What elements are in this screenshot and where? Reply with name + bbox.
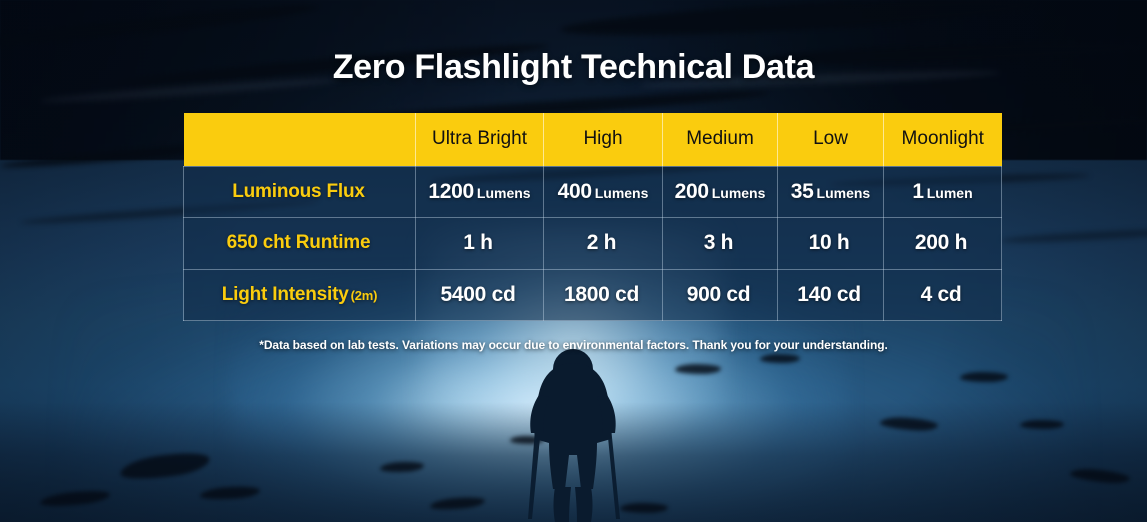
cell-unit: Lumens (712, 185, 766, 201)
cell-light-intensity-ultra-bright: 5400 cd (416, 269, 544, 321)
cell-luminous-flux-high: 400Lumens (544, 166, 663, 218)
cell-value: 200 (675, 180, 709, 203)
cell-value: 1200 (428, 180, 474, 203)
column-header-low: Low (778, 113, 884, 166)
cell-luminous-flux-low: 35Lumens (778, 166, 884, 218)
cell-unit: Lumens (817, 185, 871, 201)
row-label-text: 650 cht Runtime (227, 232, 371, 253)
column-header-ultra-bright: Ultra Bright (416, 113, 544, 166)
cell-light-intensity-high: 1800 cd (544, 269, 663, 321)
cell-light-intensity-moonlight: 4 cd (884, 269, 1002, 321)
cell-luminous-flux-medium: 200Lumens (663, 166, 778, 218)
column-header-moonlight: Moonlight (884, 113, 1002, 166)
cell-value: 3 h (704, 231, 733, 254)
cell-unit: Lumens (595, 185, 649, 201)
row-label-sub: (2m) (351, 288, 378, 303)
row-label-light-intensity: Light Intensity(2m) (184, 269, 416, 321)
cell-unit: Lumens (477, 185, 531, 201)
cell-value: 2 h (587, 231, 616, 254)
spec-table: Ultra Bright High Medium Low Moonlight L… (183, 113, 1002, 321)
page-title: Zero Flashlight Technical Data (0, 48, 1147, 87)
row-label-text: Light Intensity (222, 284, 349, 305)
row-label-luminous-flux: Luminous Flux (184, 166, 416, 218)
cell-value: 1800 cd (564, 283, 639, 306)
cell-runtime-moonlight: 200 h (884, 218, 1002, 270)
row-label-text: Luminous Flux (232, 181, 365, 202)
table-corner-cell (184, 113, 416, 166)
content-layer: Zero Flashlight Technical Data Ultra Bri… (0, 0, 1147, 522)
cell-value: 1 h (463, 231, 492, 254)
column-header-high: High (544, 113, 663, 166)
cell-value: 4 cd (921, 283, 962, 306)
cell-value: 1 (912, 180, 923, 203)
cell-luminous-flux-ultra-bright: 1200Lumens (416, 166, 544, 218)
cell-runtime-high: 2 h (544, 218, 663, 270)
cell-luminous-flux-moonlight: 1Lumen (884, 166, 1002, 218)
cell-light-intensity-low: 140 cd (778, 269, 884, 321)
table-row: 650 cht Runtime 1 h 2 h 3 h 10 h 200 h (184, 218, 1002, 270)
cell-value: 35 (791, 180, 814, 203)
table-row: Luminous Flux 1200Lumens 400Lumens 200Lu… (184, 166, 1002, 218)
cell-value: 5400 cd (441, 283, 516, 306)
cell-value: 900 cd (687, 283, 751, 306)
cell-runtime-low: 10 h (778, 218, 884, 270)
cell-unit: Lumen (927, 185, 973, 201)
table-row: Light Intensity(2m) 5400 cd 1800 cd 900 … (184, 269, 1002, 321)
column-header-medium: Medium (663, 113, 778, 166)
cell-value: 400 (558, 180, 592, 203)
cell-value: 10 h (809, 231, 850, 254)
cell-value: 140 cd (797, 283, 861, 306)
row-label-runtime: 650 cht Runtime (184, 218, 416, 270)
footnote-disclaimer: *Data based on lab tests. Variations may… (0, 338, 1147, 352)
cell-value: 200 h (915, 231, 967, 254)
cell-runtime-ultra-bright: 1 h (416, 218, 544, 270)
table-header-row: Ultra Bright High Medium Low Moonlight (184, 113, 1002, 166)
cell-light-intensity-medium: 900 cd (663, 269, 778, 321)
cell-runtime-medium: 3 h (663, 218, 778, 270)
